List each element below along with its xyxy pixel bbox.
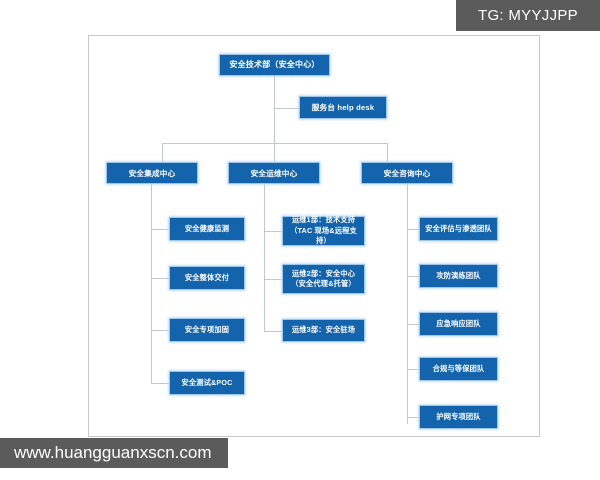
org-node-center-integration[interactable]: 安全集成中心 xyxy=(106,162,198,184)
org-node-leaf-right-2[interactable]: 攻防演练团队 xyxy=(419,264,498,288)
connector-left-stub-4 xyxy=(151,383,169,384)
connector-left-stub-2 xyxy=(151,278,169,279)
site-watermark-banner: www.huangguanxscn.com xyxy=(0,438,228,468)
connector-middle-stub-2 xyxy=(264,279,282,280)
org-node-leaf-right-5[interactable]: 护网专项团队 xyxy=(419,405,498,429)
tg-watermark-banner: TG: MYYJJPP xyxy=(456,0,600,31)
connector-middle-stub-1 xyxy=(264,231,282,232)
org-node-center-operations[interactable]: 安全运维中心 xyxy=(228,162,320,184)
leaf-middle-2-text: 运维2部：安全中心 （安全代理&托管） xyxy=(291,269,356,290)
connector-right-stub-4 xyxy=(407,369,419,370)
connector-middle-stub-3 xyxy=(264,331,282,332)
org-node-leaf-right-4[interactable]: 合规与等保团队 xyxy=(419,357,498,381)
connector-right-stub-5 xyxy=(407,417,419,418)
connector-left-spine xyxy=(151,183,152,384)
org-chart-frame: 安全技术部（安全中心） 服务台 help desk 安全集成中心 安全运维中心 … xyxy=(88,35,540,437)
connector-right-stub-1 xyxy=(407,229,419,230)
org-chart-canvas: 安全技术部（安全中心） 服务台 help desk 安全集成中心 安全运维中心 … xyxy=(89,36,539,436)
connector-left-stub-1 xyxy=(151,229,169,230)
connector-middle-spine xyxy=(264,183,265,332)
connector-left-stub-3 xyxy=(151,330,169,331)
connector-center-left-drop xyxy=(162,143,163,163)
org-node-leaf-left-2[interactable]: 安全整体交付 xyxy=(169,266,245,290)
connector-right-spine xyxy=(407,183,408,424)
connector-root-vertical xyxy=(274,75,275,143)
connector-center-middle-drop xyxy=(274,143,275,163)
org-node-leaf-right-3[interactable]: 应急响应团队 xyxy=(419,312,498,336)
org-node-leaf-left-4[interactable]: 安全测试&POC xyxy=(169,371,245,395)
org-node-leaf-left-1[interactable]: 安全健康监测 xyxy=(169,217,245,241)
org-node-leaf-right-1[interactable]: 安全评估与渗透团队 xyxy=(419,217,498,241)
org-node-leaf-middle-2[interactable]: 运维2部：安全中心 （安全代理&托管） xyxy=(282,264,365,294)
org-node-leaf-left-3[interactable]: 安全专项加固 xyxy=(169,318,245,342)
leaf-middle-1-text: 运维1部：技术支持 （TAC 现场&远程支持） xyxy=(286,215,361,246)
org-node-leaf-middle-1[interactable]: 运维1部：技术支持 （TAC 现场&远程支持） xyxy=(282,216,365,246)
connector-center-right-drop xyxy=(387,143,388,163)
org-node-root[interactable]: 安全技术部（安全中心） xyxy=(219,54,330,76)
connector-right-stub-3 xyxy=(407,324,419,325)
org-node-center-consulting[interactable]: 安全咨询中心 xyxy=(361,162,453,184)
org-node-leaf-middle-3[interactable]: 运维3部：安全驻场 xyxy=(282,319,365,342)
connector-right-stub-2 xyxy=(407,276,419,277)
connector-assistant-stub xyxy=(274,108,299,109)
org-node-assistant-help-desk[interactable]: 服务台 help desk xyxy=(299,96,387,119)
